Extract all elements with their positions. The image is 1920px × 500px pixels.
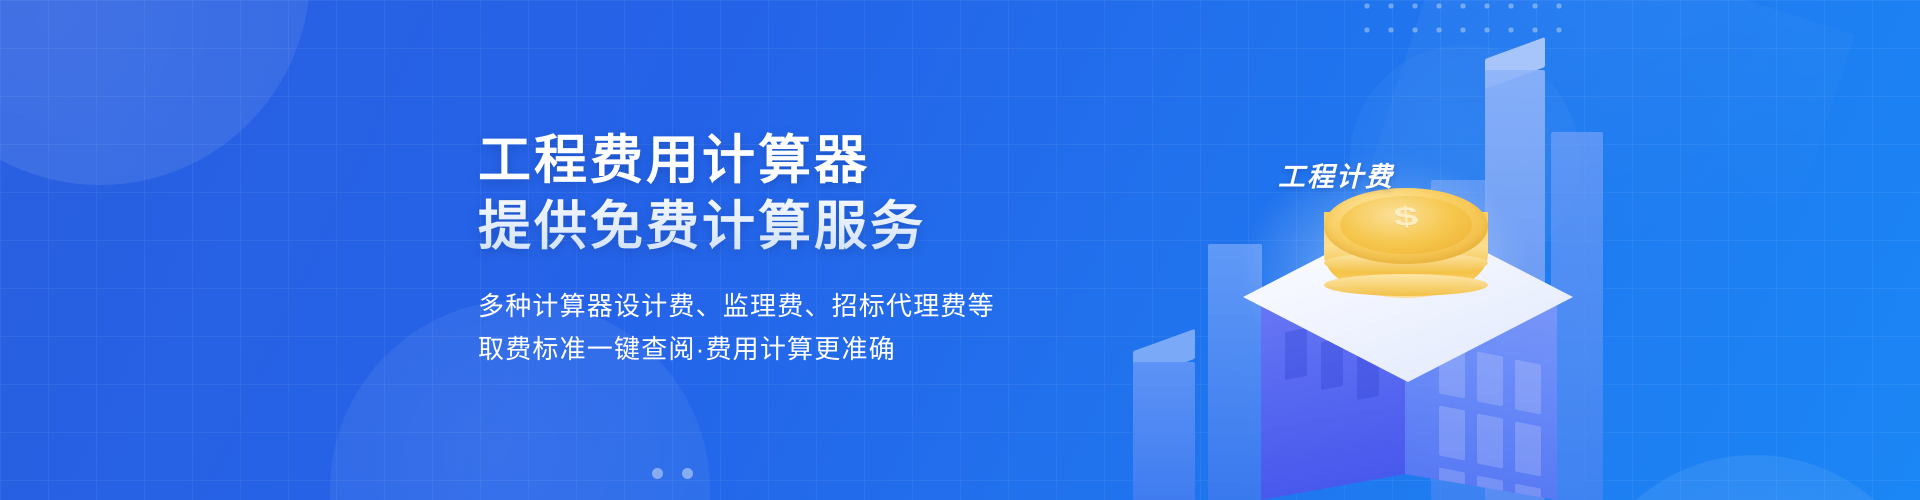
subtitle-line-2: 取费标准一键查阅·费用计算更准确 [478,328,1118,370]
building-window [1439,405,1465,460]
skyline-bar-a [1133,362,1195,500]
page-title: 工程费用计算器 提供免费计算服务 [478,128,1118,259]
banner-copy-block: 工程费用计算器 提供免费计算服务 多种计算器设计费、监理费、招标代理费等 取费标… [478,128,1118,370]
hero-illustration: 工程计费 $ [1075,0,1635,500]
carousel-dot-1[interactable] [652,468,663,479]
subtitle-line-1: 多种计算器设计费、监理费、招标代理费等 [478,285,1118,327]
gold-coin-stack-icon: $ [1318,178,1498,328]
building-window [1477,351,1503,406]
building-window [1515,421,1541,476]
dollar-sign-icon: $ [1317,199,1495,236]
carousel-dots[interactable] [652,468,693,479]
page-subtitle: 多种计算器设计费、监理费、招标代理费等 取费标准一键查阅·费用计算更准确 [478,285,1118,369]
headline-line-1: 工程费用计算器 [478,128,1118,194]
hero-banner: 工程费用计算器 提供免费计算服务 多种计算器设计费、监理费、招标代理费等 取费标… [0,0,1920,500]
decorative-circle-top-left [0,0,310,185]
building-window [1285,328,1307,380]
building-window [1515,359,1541,414]
coin-ring [1324,274,1488,296]
carousel-dot-2[interactable] [682,468,693,479]
headline-line-2: 提供免费计算服务 [478,194,1118,260]
building-window [1477,413,1503,468]
illustration-tag-label: 工程计费 [1278,155,1394,194]
skyline-bar-d [1551,132,1603,500]
